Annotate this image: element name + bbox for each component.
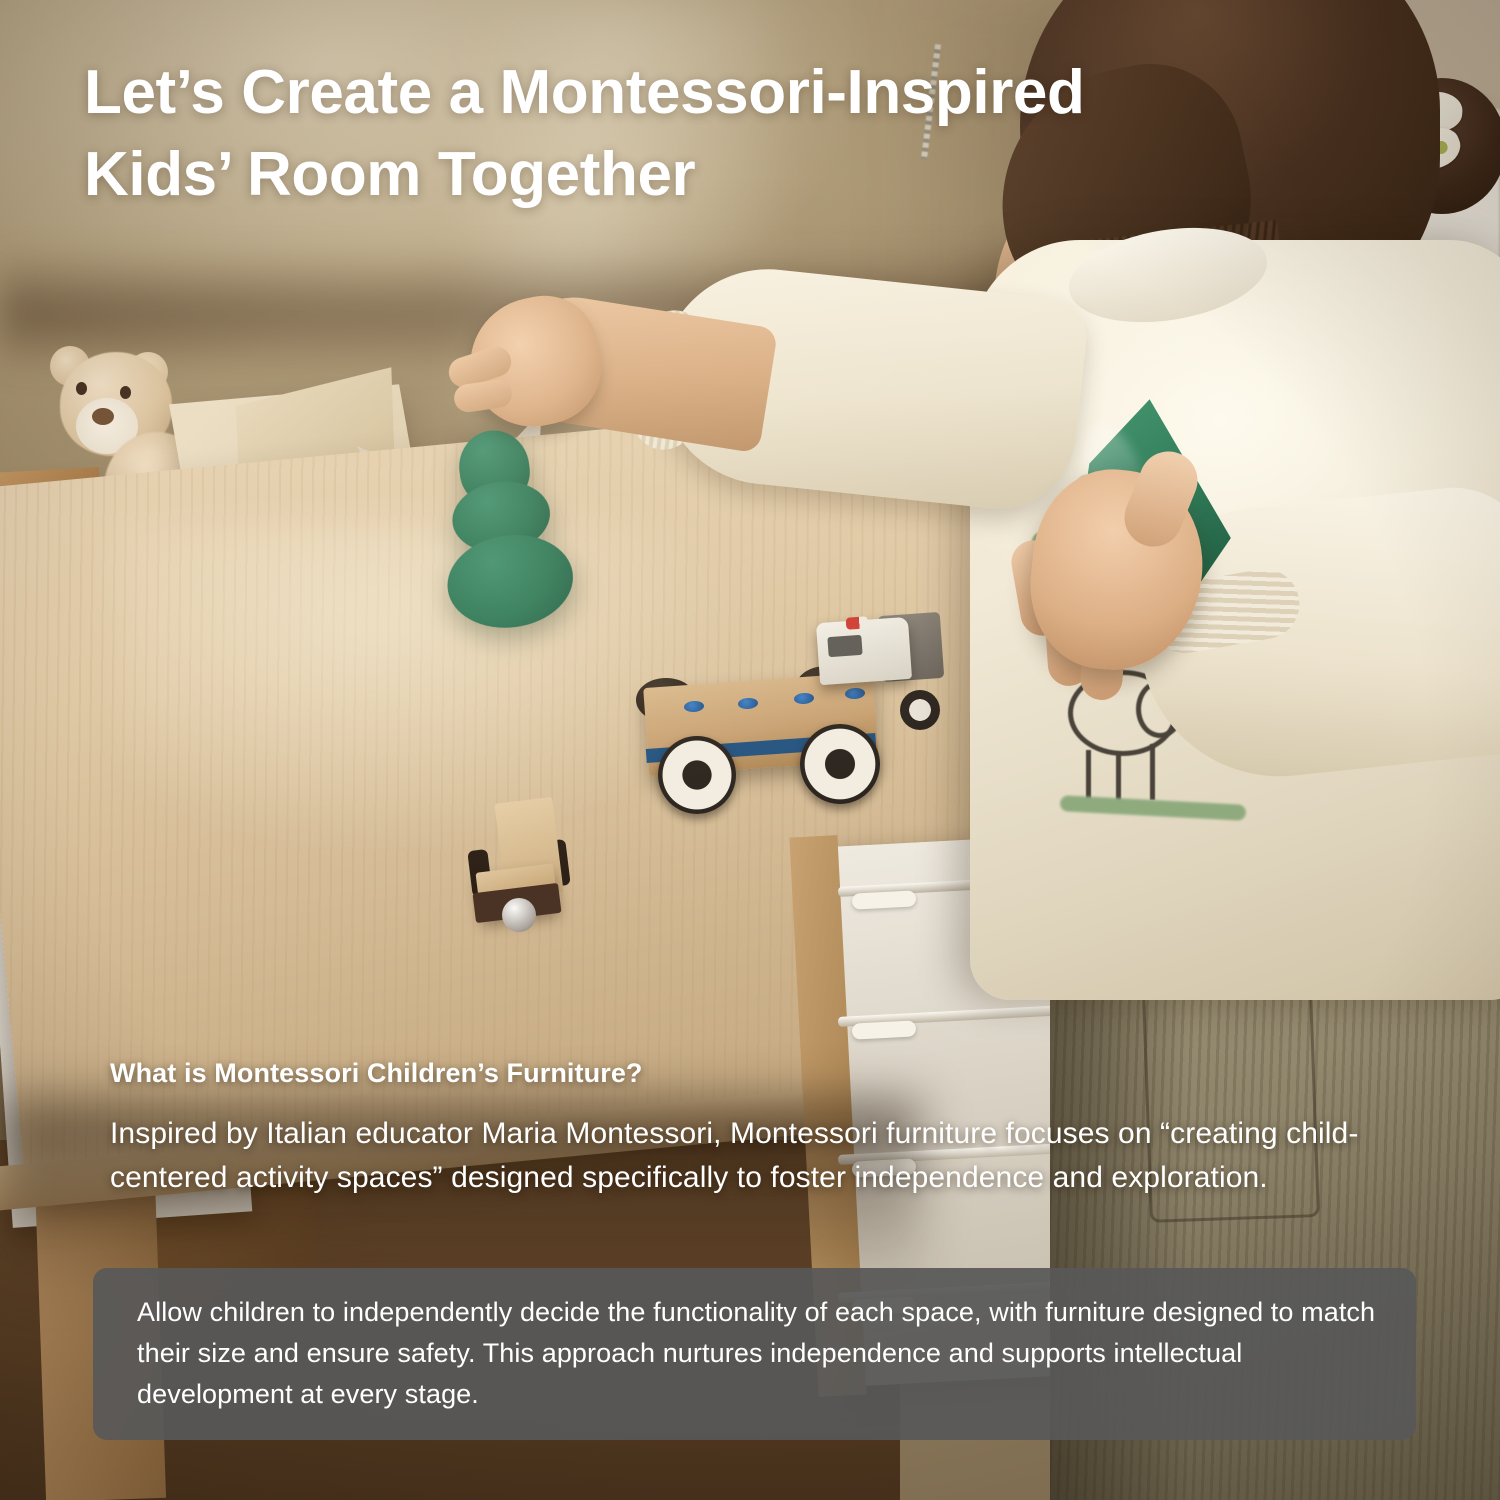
teddy-bear-eye-left xyxy=(76,382,87,395)
promo-poster: 超级 xyxy=(0,0,1500,1500)
sheep-print-leg-3 xyxy=(1150,744,1155,800)
police-car-light-bar xyxy=(846,616,869,630)
truck-wheel-front xyxy=(800,724,880,804)
section-subheading: What is Montessori Children’s Furniture? xyxy=(110,1058,1440,1089)
section-body-text: Inspired by Italian educator Maria Monte… xyxy=(110,1112,1440,1200)
callout-text: Allow children to independently decide t… xyxy=(137,1292,1387,1415)
callout-box: Allow children to independently decide t… xyxy=(93,1268,1416,1440)
teddy-bear-eye-right xyxy=(120,386,131,399)
headline-line-1: Let’s Create a Montessori-Inspired xyxy=(84,52,1294,134)
page-title: Let’s Create a Montessori-Inspired Kids’… xyxy=(84,52,1294,216)
cart-metal-knob xyxy=(502,898,536,932)
green-stacking-tree-toy xyxy=(425,422,580,638)
police-car-window xyxy=(827,635,862,657)
teddy-bear-nose xyxy=(92,408,114,425)
headline-line-2: Kids’ Room Together xyxy=(84,134,1294,216)
truck-wheel-rear xyxy=(658,736,736,814)
